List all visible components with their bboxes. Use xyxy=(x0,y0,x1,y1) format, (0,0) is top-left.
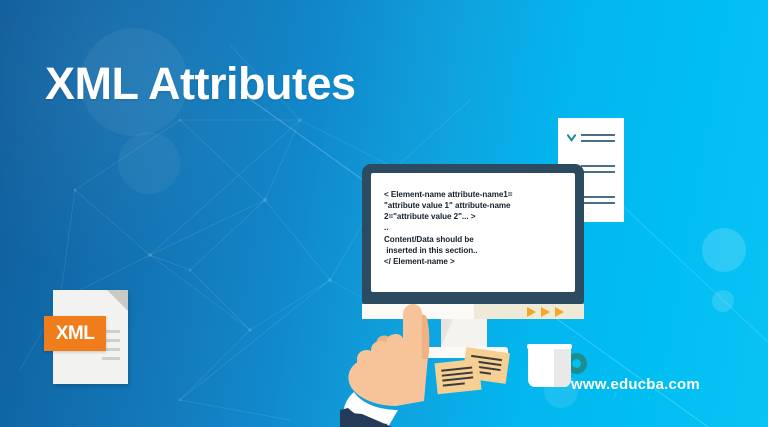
xml-file-icon: XML xyxy=(53,290,128,384)
pointing-hand-cursor xyxy=(340,296,472,427)
xml-badge-label: XML xyxy=(56,324,95,343)
computer-monitor: < Element-name attribute-name1= "attribu… xyxy=(362,164,584,304)
finger-shade xyxy=(422,314,429,359)
file-text-line xyxy=(102,357,120,360)
page-fold-corner xyxy=(107,290,128,311)
play-arrows xyxy=(527,307,564,317)
hand-palm xyxy=(348,354,428,406)
checklist-bars xyxy=(581,134,615,145)
xml-badge: XML xyxy=(44,316,106,351)
mug-handle-hole xyxy=(572,359,581,368)
monitor-screen: < Element-name attribute-name1= "attribu… xyxy=(371,173,575,292)
checklist-bars xyxy=(581,165,615,176)
mug-shade xyxy=(554,344,571,387)
educba-banner: XML Attributes XML xyxy=(0,0,768,427)
page-title: XML Attributes xyxy=(45,58,356,110)
mug-rim xyxy=(527,344,572,349)
play-triangle-icon xyxy=(555,307,564,317)
hand-index-finger xyxy=(403,304,422,359)
play-triangle-icon xyxy=(527,307,536,317)
check-icon xyxy=(567,133,576,142)
xml-code-text: < Element-name attribute-name1= "attribu… xyxy=(384,189,571,267)
play-triangle-icon xyxy=(541,307,550,317)
website-url: www.educba.com xyxy=(571,376,700,393)
